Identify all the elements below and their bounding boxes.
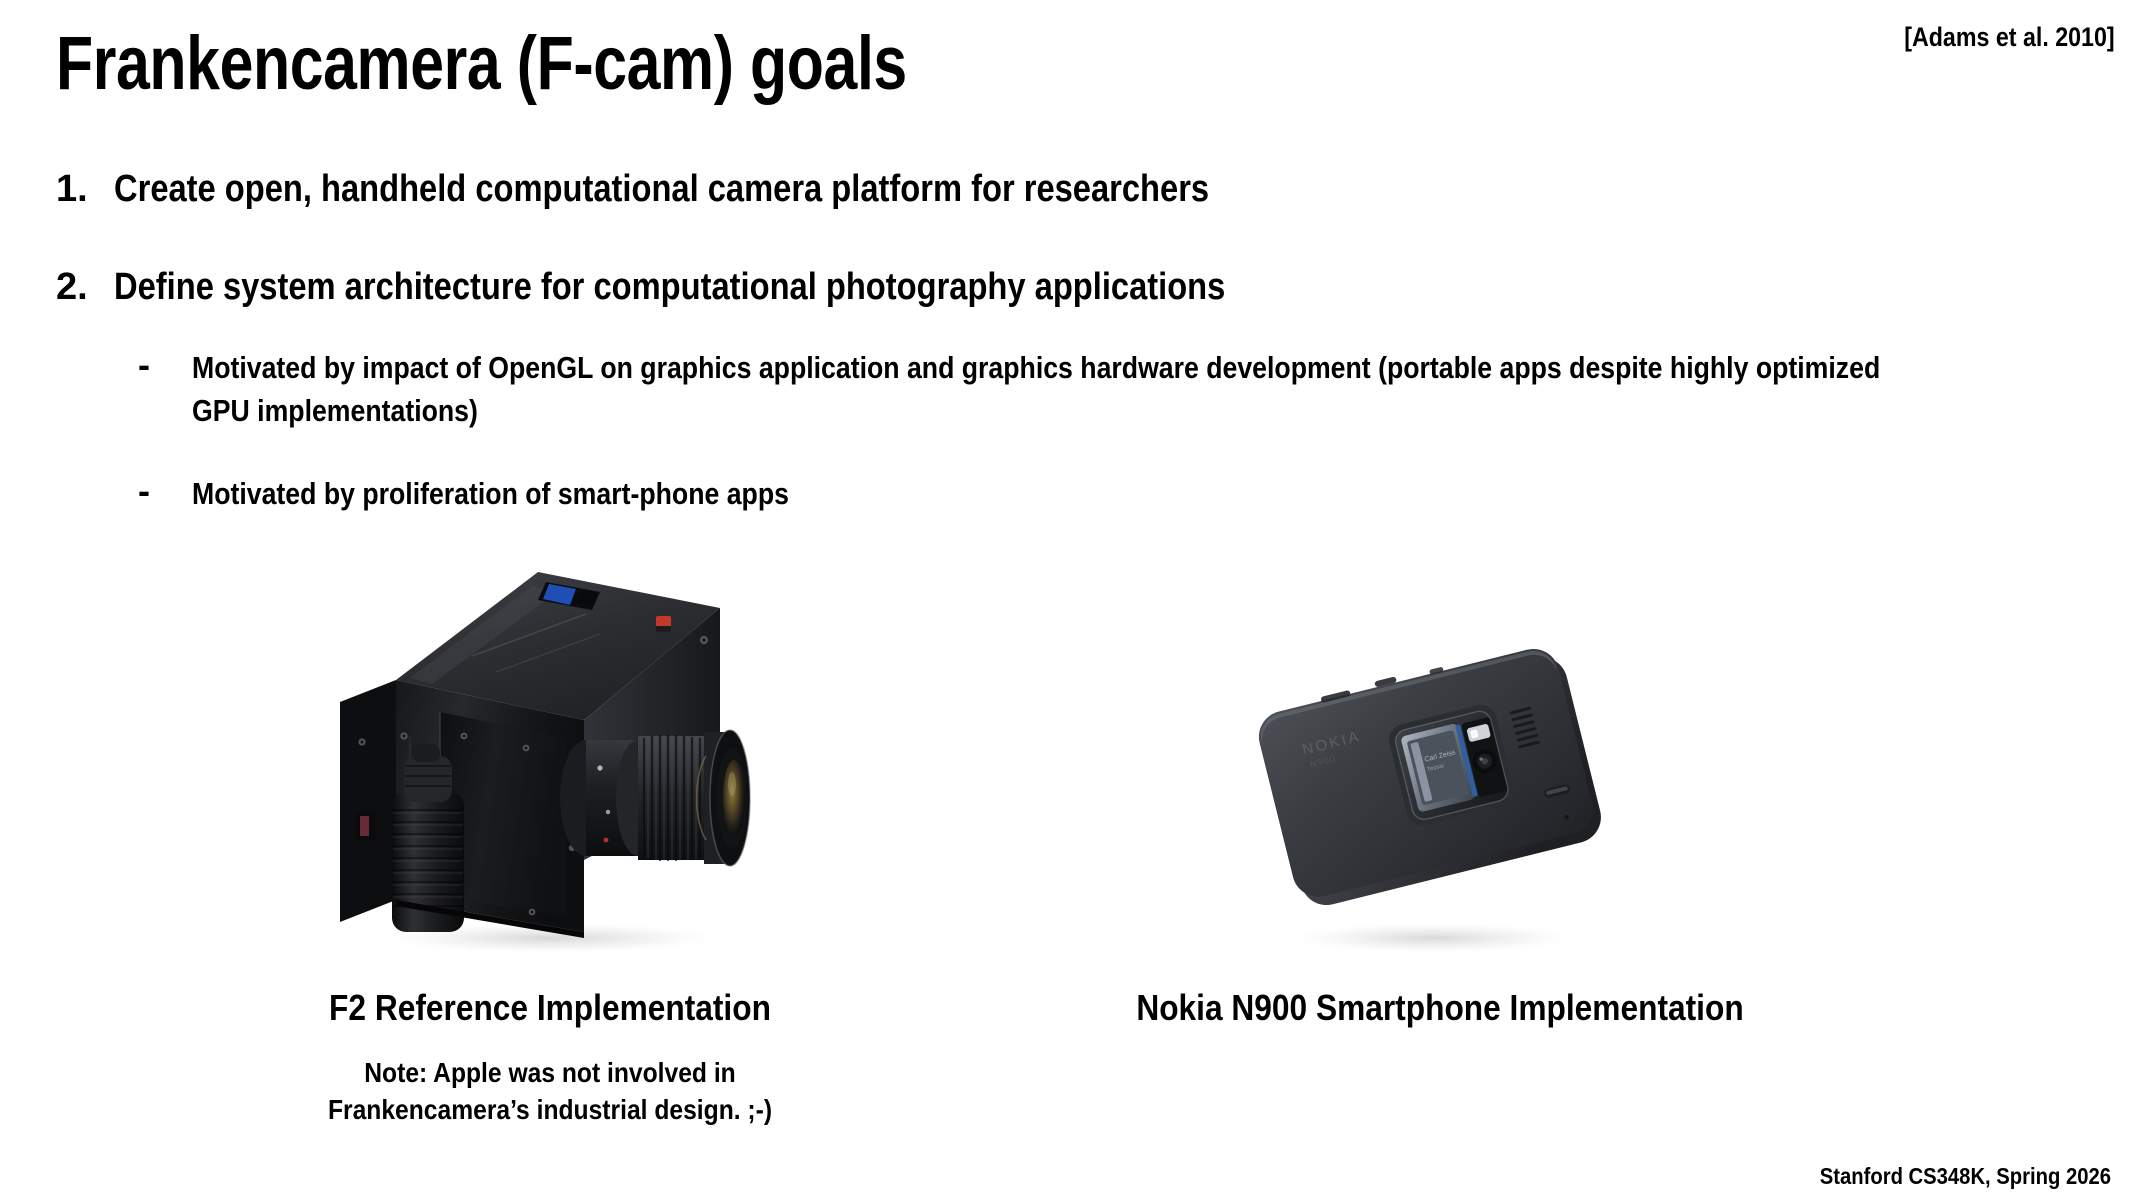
red-connector: [656, 616, 671, 627]
footer-label: Stanford CS348K, Spring 2026: [1820, 1165, 2111, 1188]
list-item-2-text: Define system architecture for computati…: [114, 268, 1225, 308]
sub-list-item-2-marker: -: [138, 469, 150, 512]
sub-list-item-1-text: Motivated by impact of OpenGL on graphic…: [192, 347, 1895, 433]
f2-camera-image: [300, 560, 820, 960]
list-item-2: 2.Define system architecture for computa…: [56, 268, 1406, 308]
list-item-1-text: Create open, handheld computational came…: [114, 170, 1209, 210]
right-figure-caption: Nokia N900 Smartphone Implementation: [1136, 988, 1743, 1028]
page-title: Frankencamera (F-cam) goals: [56, 26, 907, 102]
left-figure-note-line-2: Frankencamera’s industrial design. ;-): [268, 1092, 831, 1129]
slide-canvas: Frankencamera (F-cam) goals [Adams et al…: [0, 0, 2133, 1200]
nokia-n900-image: NOKIA N900 Carl Zeiss Tessar: [1225, 620, 1645, 960]
left-figure-caption: F2 Reference Implementation: [329, 988, 771, 1028]
citation-label: [Adams et al. 2010]: [1905, 24, 2115, 51]
left-figure-note: Note: Apple was not involved in Frankenc…: [230, 1055, 870, 1129]
sub-list-item-1-marker: -: [138, 343, 150, 386]
sub-list-item-2: - Motivated by proliferation of smart-ph…: [138, 473, 2133, 516]
list-item-1: 1.Create open, handheld computational ca…: [56, 170, 1387, 210]
sub-list-item-1: - Motivated by impact of OpenGL on graph…: [138, 347, 2133, 433]
list-item-2-marker: 2.: [56, 268, 114, 308]
left-figure-note-line-1: Note: Apple was not involved in: [268, 1055, 831, 1092]
sub-list-item-2-text: Motivated by proliferation of smart-phon…: [192, 473, 1895, 516]
camera-lens: [560, 730, 750, 866]
list-item-1-marker: 1.: [56, 170, 114, 210]
